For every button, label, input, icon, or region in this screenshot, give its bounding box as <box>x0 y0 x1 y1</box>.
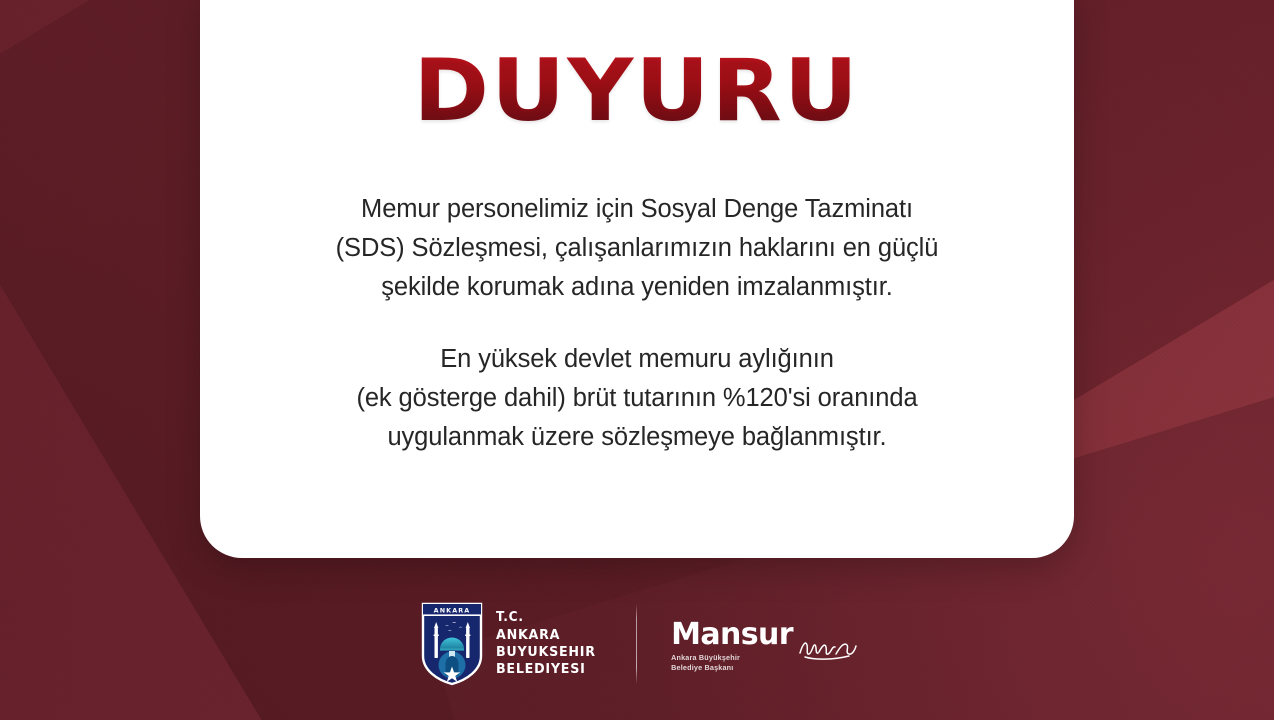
municipality-line-belediyesi: BELEDIYESI <box>496 661 596 678</box>
mansur-subtitle-line-2: Belediye Başkanı <box>671 663 793 673</box>
page-title: DUYURU <box>414 48 861 134</box>
mansur-yavas-logo: Mansur Ankara Büyükşehir Belediye Başkan… <box>671 615 859 672</box>
municipality-name-block: T.C. ANKARA BUYUKSEHIR BELEDIYESI <box>496 610 596 678</box>
footer-logos: ANKARA <box>0 602 1280 686</box>
mansur-subtitle-line-1: Ankara Büyükşehir <box>671 653 793 663</box>
mansur-text-block: Mansur Ankara Büyükşehir Belediye Başkan… <box>671 621 793 672</box>
paragraph-2-line-3: uygulanmak üzere sözleşmeye bağlanmıştır… <box>257 418 1017 457</box>
mansur-subtitle: Ankara Büyükşehir Belediye Başkanı <box>671 653 793 672</box>
paragraph-1-line-3: şekilde korumak adına yeniden imzalanmış… <box>257 268 1017 307</box>
paragraph-1-line-1: Memur personelimiz için Sosyal Denge Taz… <box>257 190 1017 229</box>
municipality-line-tc: T.C. <box>496 610 596 627</box>
ankara-municipality-logo: ANKARA <box>421 602 602 686</box>
mansur-signature-icon <box>797 635 859 661</box>
municipality-line-ankara: ANKARA <box>496 627 596 644</box>
paragraph-2-line-2: (ek gösterge dahil) brüt tutarının %120'… <box>257 379 1017 418</box>
announcement-body: Memur personelimiz için Sosyal Denge Taz… <box>257 190 1017 457</box>
footer-divider <box>636 604 637 684</box>
municipality-line-buyuksehir: BUYUKSEHIR <box>496 644 596 661</box>
svg-text:ANKARA: ANKARA <box>434 607 471 615</box>
ankara-shield-icon: ANKARA <box>421 602 483 686</box>
paragraph-1-line-2: (SDS) Sözleşmesi, çalışanlarımızın hakla… <box>257 229 1017 268</box>
paragraph-2-line-1: En yüksek devlet memuru aylığının <box>257 340 1017 379</box>
paragraph-2: En yüksek devlet memuru aylığının (ek gö… <box>257 340 1017 456</box>
announcement-card: DUYURU Memur personelimiz için Sosyal De… <box>200 0 1074 558</box>
mansur-wordmark: Mansur <box>671 621 793 650</box>
paragraph-1: Memur personelimiz için Sosyal Denge Taz… <box>257 190 1017 306</box>
